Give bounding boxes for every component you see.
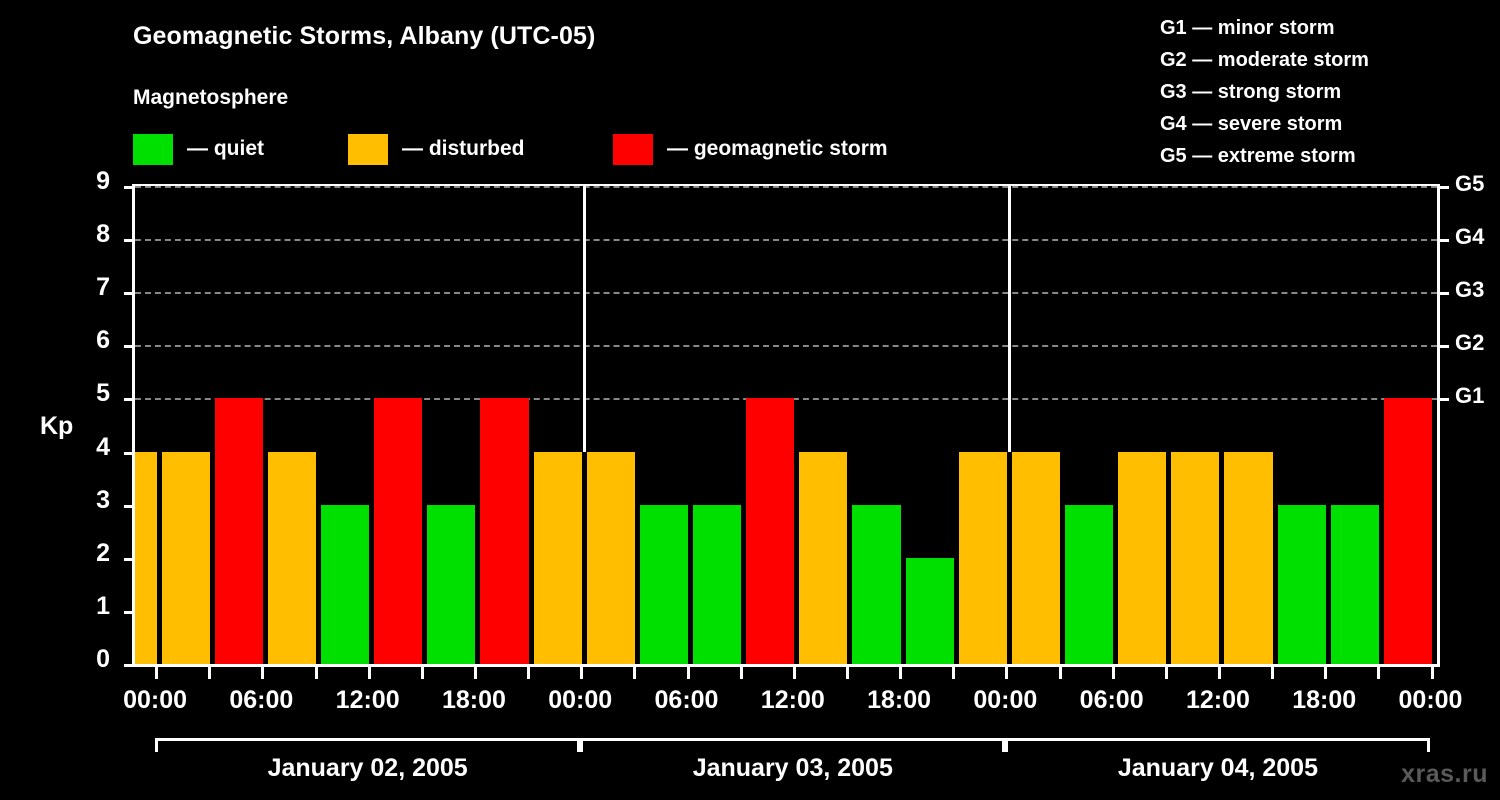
right-axis-label-G3: G3 [1455,277,1484,303]
bar [746,398,794,664]
x-axis-label-4: 00:00 [548,686,612,715]
page-title: Geomagnetic Storms, Albany (UTC-05) [133,22,595,51]
y-axis-label-7: 7 [70,273,110,302]
g-scale-line-1: G1 — minor storm [1160,12,1490,44]
legend-item-quiet: — quiet [133,133,264,165]
right-tick-G5 [1437,186,1449,189]
bar [799,452,847,664]
y-tick-8 [124,239,135,242]
x-tick-13 [846,665,849,679]
x-tick-19 [1165,665,1168,679]
x-tick-24 [1431,665,1434,679]
y-axis-label-1: 1 [70,592,110,621]
x-axis-label-7: 18:00 [867,686,931,715]
bar [1012,452,1060,664]
x-axis-label-10: 12:00 [1186,686,1250,715]
day-bracket-2 [580,738,1005,752]
x-axis-label-3: 18:00 [442,686,506,715]
x-tick-10 [687,665,690,679]
g-scale-line-5: G5 — extreme storm [1160,140,1490,172]
x-axis-label-5: 06:00 [655,686,719,715]
y-axis-label-4: 4 [70,433,110,462]
bar [852,505,900,664]
bar [1118,452,1166,664]
x-tick-22 [1324,665,1327,679]
g-scale-line-3: G3 — strong storm [1160,76,1490,108]
bar-partial-leading [135,452,157,664]
right-axis-label-G4: G4 [1455,224,1484,250]
bar [215,398,263,664]
right-tick-G2 [1437,345,1449,348]
x-tick-1 [208,665,211,679]
g-scale-line-4: G4 — severe storm [1160,108,1490,140]
y-tick-1 [124,611,135,614]
x-tick-20 [1218,665,1221,679]
right-tick-G3 [1437,292,1449,295]
x-tick-21 [1271,665,1274,679]
bar [268,452,316,664]
x-tick-12 [793,665,796,679]
y-tick-0 [124,664,135,667]
x-tick-0 [155,665,158,679]
bar [1384,398,1432,664]
x-axis-label-2: 12:00 [336,686,400,715]
bar [374,398,422,664]
bar [693,505,741,664]
y-axis-label-0: 0 [70,645,110,674]
day-bracket-1 [155,738,580,752]
y-tick-5 [124,398,135,401]
day-separator-1 [583,186,586,452]
x-axis-label-11: 18:00 [1292,686,1356,715]
x-axis-label-9: 06:00 [1080,686,1144,715]
bar-series [135,186,1437,664]
bar [1331,505,1379,664]
g-scale-line-2: G2 — moderate storm [1160,44,1490,76]
y-tick-4 [124,452,135,455]
x-tick-9 [633,665,636,679]
chart-root: Geomagnetic Storms, Albany (UTC-05) Magn… [0,0,1500,800]
x-tick-11 [740,665,743,679]
legend-swatch-quiet [133,134,173,165]
day-separator-2 [1008,186,1011,452]
x-tick-4 [368,665,371,679]
bar [640,505,688,664]
bar [1278,505,1326,664]
y-tick-7 [124,292,135,295]
plot-inner [135,186,1437,664]
g-scale-legend: G1 — minor stormG2 — moderate stormG3 — … [1160,12,1490,172]
x-tick-2 [261,665,264,679]
bar [534,452,582,664]
y-tick-3 [124,505,135,508]
day-label-2: January 03, 2005 [693,754,893,783]
x-tick-15 [952,665,955,679]
day-label-1: January 02, 2005 [268,754,468,783]
plot-area: G1G2G3G4G5 [132,184,1440,667]
x-tick-6 [474,665,477,679]
x-tick-3 [315,665,318,679]
y-axis-title: Kp [40,412,73,441]
day-bracket-3 [1005,738,1430,752]
bar [427,505,475,664]
legend-item-disturbed: — disturbed [348,133,525,165]
bar [959,452,1007,664]
day-label-3: January 04, 2005 [1118,754,1318,783]
legend-label-disturbed: — disturbed [402,137,525,161]
section-label: Magnetosphere [133,86,288,110]
y-tick-2 [124,558,135,561]
y-tick-6 [124,345,135,348]
x-axis-label-12: 00:00 [1399,686,1463,715]
y-axis-label-6: 6 [70,326,110,355]
y-axis-label-9: 9 [70,167,110,196]
bar [1171,452,1219,664]
x-tick-18 [1112,665,1115,679]
y-axis-label-2: 2 [70,539,110,568]
bar [906,558,954,664]
bar [480,398,528,664]
x-axis-label-8: 00:00 [973,686,1037,715]
x-axis-label-6: 12:00 [761,686,825,715]
x-tick-5 [421,665,424,679]
x-axis-label-0: 00:00 [123,686,187,715]
legend-swatch-storm [613,134,653,165]
right-axis-label-G5: G5 [1455,171,1484,197]
legend-item-storm: — geomagnetic storm [613,133,888,165]
right-axis-label-G2: G2 [1455,330,1484,356]
legend: — quiet— disturbed— geomagnetic storm [133,133,993,167]
bar [1224,452,1272,664]
bar [1065,505,1113,664]
y-tick-9 [124,186,135,189]
right-tick-G1 [1437,398,1449,401]
legend-swatch-disturbed [348,134,388,165]
watermark: xras.ru [1401,760,1488,789]
x-tick-16 [1005,665,1008,679]
x-tick-23 [1377,665,1380,679]
y-axis-label-5: 5 [70,379,110,408]
y-axis-label-3: 3 [70,486,110,515]
x-tick-7 [527,665,530,679]
right-axis-label-G1: G1 [1455,383,1484,409]
legend-label-quiet: — quiet [187,137,264,161]
bar [321,505,369,664]
y-axis-label-8: 8 [70,220,110,249]
x-tick-17 [1059,665,1062,679]
right-tick-G4 [1437,239,1449,242]
x-tick-8 [580,665,583,679]
x-axis-label-1: 06:00 [229,686,293,715]
bar [587,452,635,664]
bar [162,452,210,664]
x-tick-14 [899,665,902,679]
legend-label-storm: — geomagnetic storm [667,137,888,161]
